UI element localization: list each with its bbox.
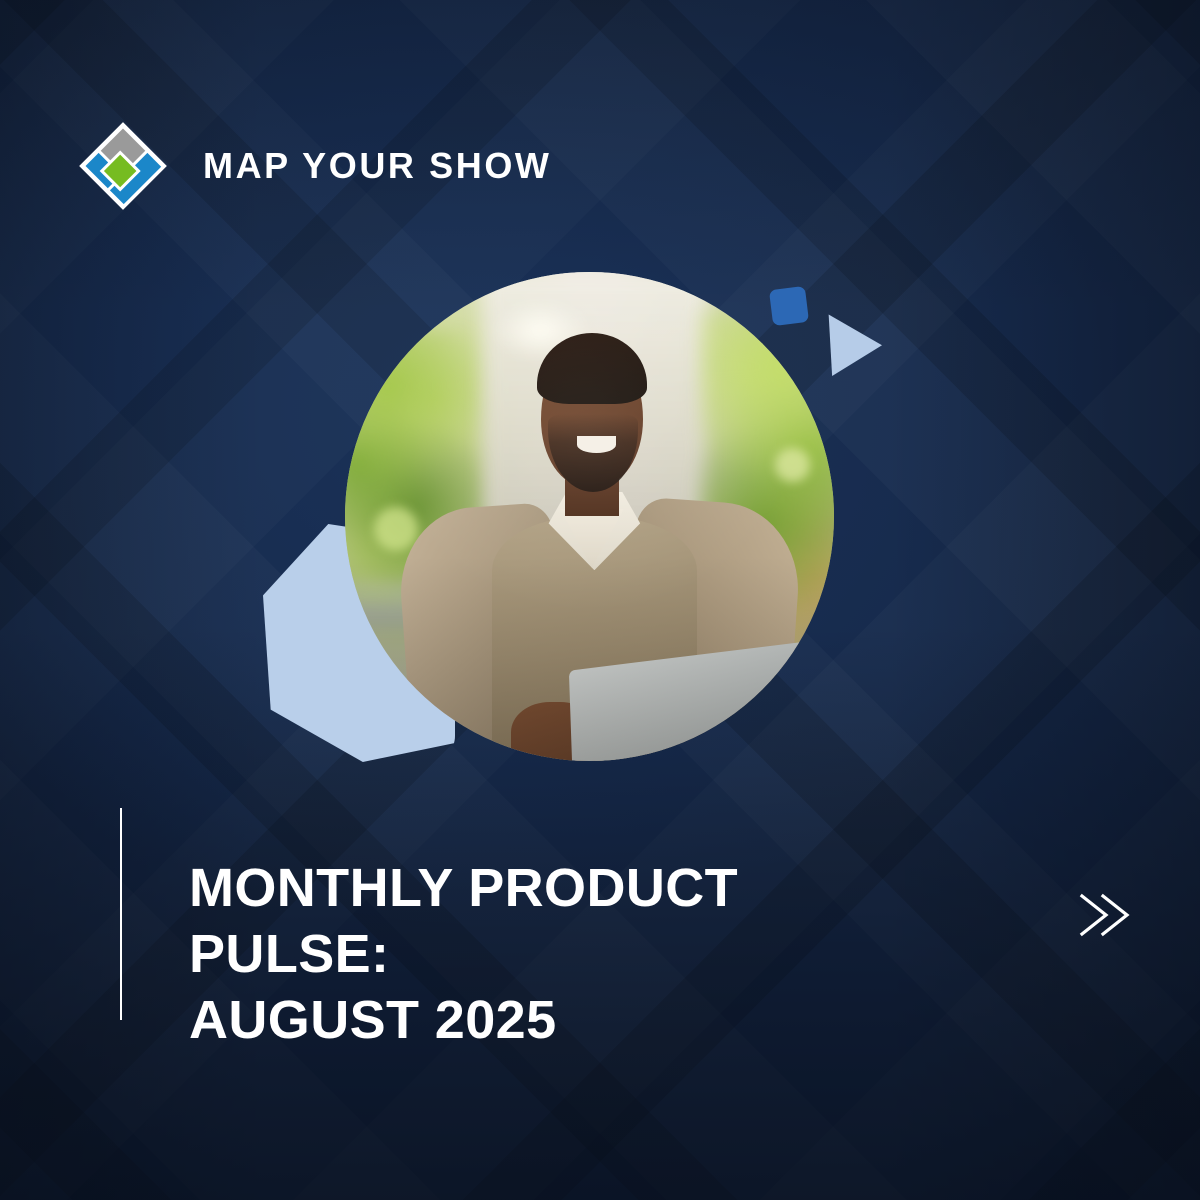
title-accent-rule [120,808,122,1020]
page-title-line-2: AUGUST 2025 [189,988,929,1054]
mys-diamond-logo-icon [75,118,171,214]
double-chevron-right-icon[interactable] [1070,880,1140,950]
brand-name: MAP YOUR SHOW [203,148,552,184]
page-title-line-1: MONTHLY PRODUCT PULSE: [189,856,929,988]
brand-header: MAP YOUR SHOW [75,118,552,214]
page-title: MONTHLY PRODUCT PULSE: AUGUST 2025 [189,856,929,1054]
promo-card: MAP YOUR SHOW [0,0,1200,1200]
